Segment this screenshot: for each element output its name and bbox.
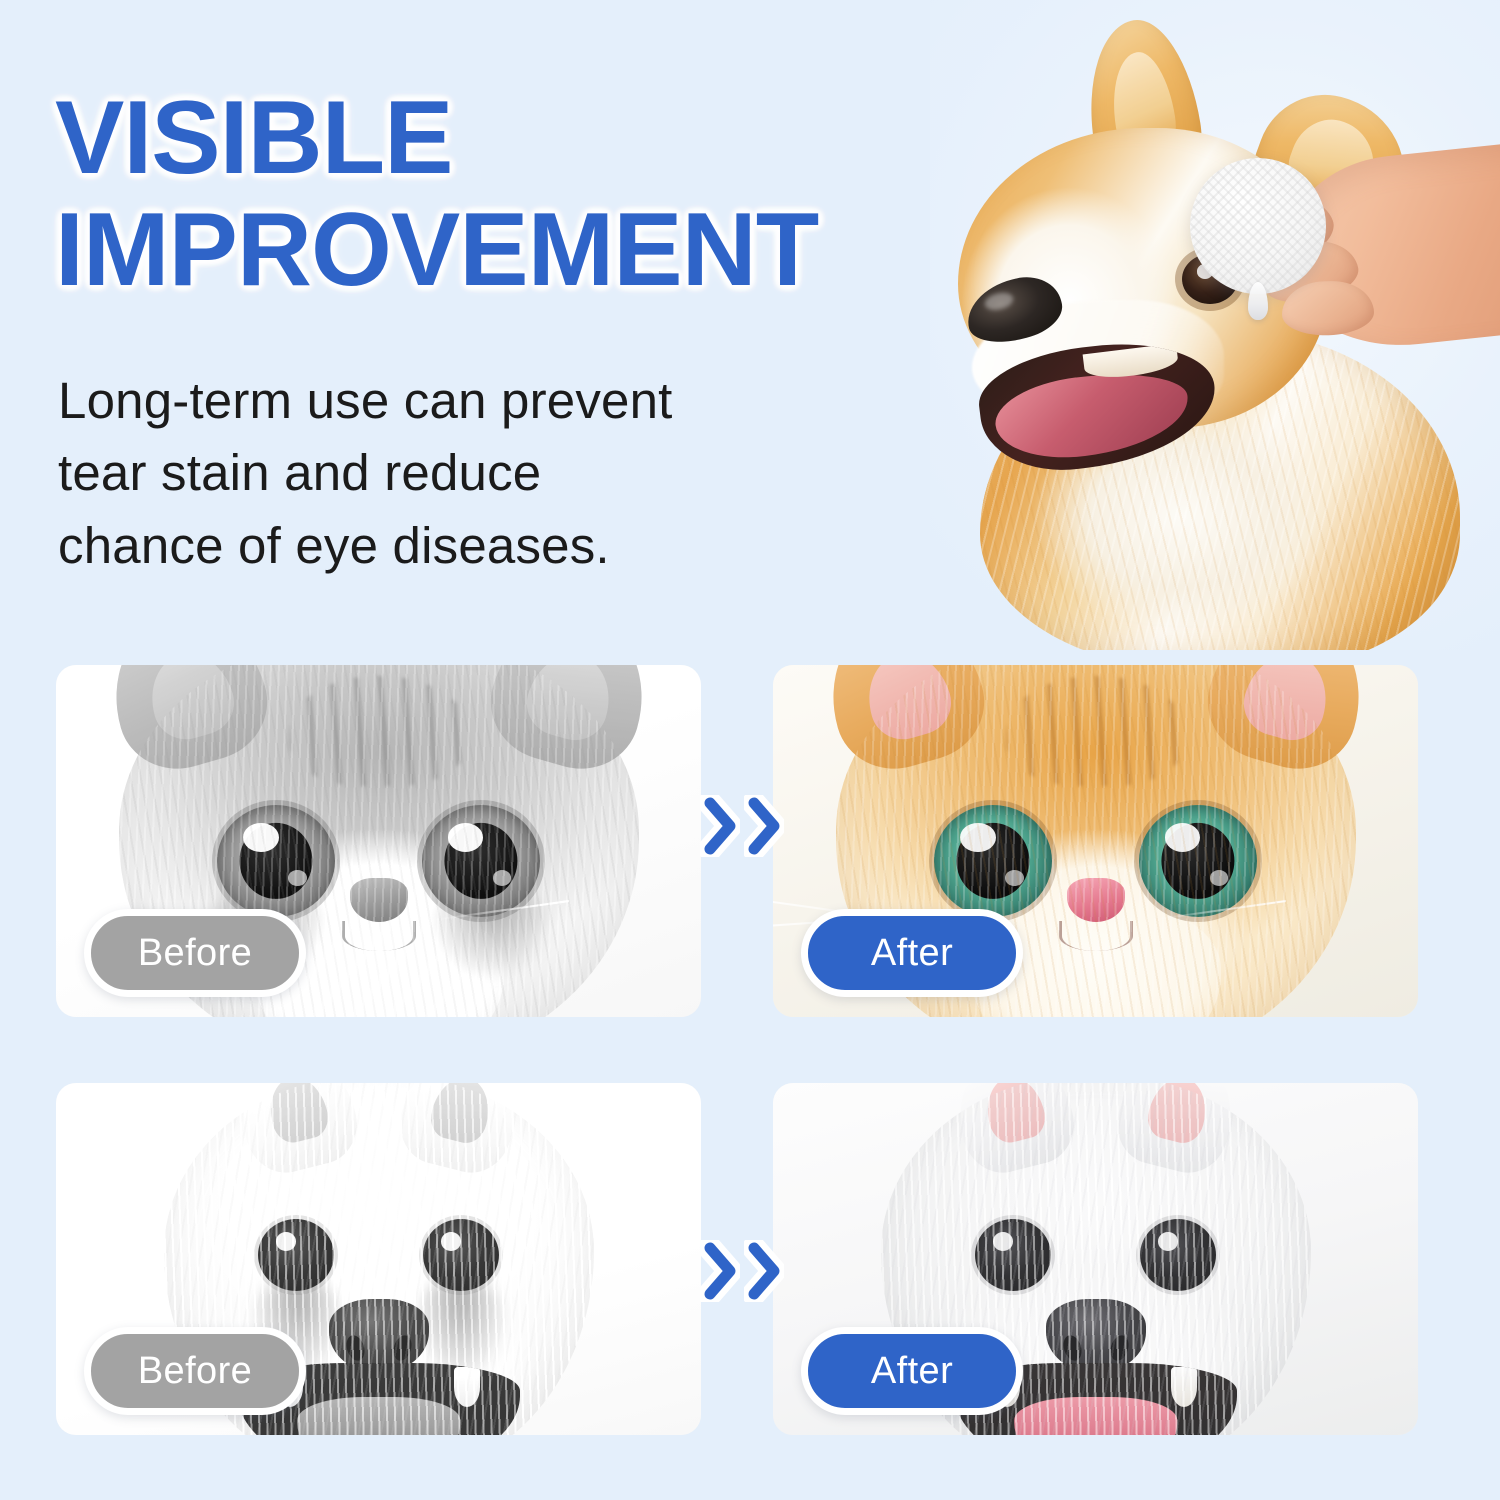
badge-after-kitten-label: After xyxy=(871,932,953,975)
hero-image-corgi-with-cotton-pad xyxy=(930,0,1500,650)
dog-after-tongue xyxy=(1014,1397,1178,1435)
dog-ear-right xyxy=(391,1083,528,1181)
kitten-after-ear-inner-right xyxy=(1236,665,1337,748)
double-chevron-right-icon-top xyxy=(700,795,784,857)
dog-eye-right xyxy=(423,1219,499,1291)
dog-after-eye-highlight-left xyxy=(993,1232,1013,1251)
chevron-right-icon-3 xyxy=(700,1240,740,1302)
subtitle-line-3: chance of eye diseases. xyxy=(58,510,878,582)
dog-after-nose xyxy=(1046,1299,1146,1373)
badge-after-kitten: After xyxy=(801,909,1023,997)
subtitle-text: Long-term use can prevent tear stain and… xyxy=(58,365,878,582)
kitten-ear-inner-left xyxy=(140,665,241,747)
comparison-panel-kitten-after: After xyxy=(773,665,1418,1017)
dog-ear-inner-right xyxy=(427,1083,497,1147)
corgi-nose-highlight xyxy=(983,290,1015,313)
dog-nostril-left xyxy=(343,1333,367,1363)
kitten-after-whisker-3 xyxy=(1147,900,1286,921)
dog-after-nostril-left xyxy=(1060,1333,1084,1363)
cotton-pad-icon xyxy=(1190,158,1326,294)
kitten-after-pupil-right xyxy=(1161,823,1234,899)
kitten-nose xyxy=(350,878,408,922)
headline-line-2: IMPROVEMENT xyxy=(55,200,985,302)
corgi-teeth xyxy=(1082,343,1179,381)
infographic-page: VISIBLE IMPROVEMENT Long-term use can pr… xyxy=(0,0,1500,1500)
dog-eye-highlight-left xyxy=(276,1232,296,1251)
double-chevron-right-icon-bottom xyxy=(700,1240,784,1302)
kitten-after-mouth-line xyxy=(1059,921,1133,951)
kitten-after-ear-inner-left xyxy=(857,665,958,747)
dog-tooth-right xyxy=(454,1367,480,1407)
badge-after-dog: After xyxy=(801,1327,1023,1415)
dog-after-eye-left xyxy=(975,1219,1051,1291)
dog-eye-left xyxy=(258,1219,334,1291)
subtitle-line-2: tear stain and reduce xyxy=(58,437,878,509)
kitten-after-eye-highlight-right xyxy=(1165,823,1200,852)
subtitle-line-1: Long-term use can prevent xyxy=(58,365,878,437)
kitten-eye-right xyxy=(422,805,540,917)
kitten-eye-highlight-right-2 xyxy=(493,870,512,886)
kitten-after-nose xyxy=(1067,878,1125,922)
kitten-forehead-stripes xyxy=(289,676,469,786)
badge-before-kitten-label: Before xyxy=(138,932,252,975)
kitten-pupil-right xyxy=(444,823,517,899)
kitten-eye-highlight-right xyxy=(448,823,483,852)
kitten-after-eye-highlight-right-2 xyxy=(1210,870,1229,886)
kitten-mouth-line xyxy=(342,921,416,951)
badge-before-dog-label: Before xyxy=(138,1350,252,1393)
dog-after-ear-left xyxy=(945,1083,1082,1181)
kitten-after-eye-left xyxy=(934,805,1052,917)
badge-before-dog: Before xyxy=(84,1327,306,1415)
kitten-after-eye-highlight-left xyxy=(960,823,995,852)
kitten-after-forehead-stripes xyxy=(1006,676,1186,786)
kitten-pupil-left xyxy=(240,823,313,899)
dog-ear-left xyxy=(228,1083,365,1181)
comparison-panel-dog-after: After xyxy=(773,1083,1418,1435)
dog-after-nostril-right xyxy=(1107,1333,1131,1363)
dog-after-ear-inner-left xyxy=(980,1083,1050,1146)
chevron-right-icon-1 xyxy=(700,795,740,857)
dog-after-ear-right xyxy=(1108,1083,1245,1181)
dog-after-tooth-right xyxy=(1171,1367,1197,1407)
chevron-right-icon-4 xyxy=(744,1240,784,1302)
dog-nose xyxy=(329,1299,429,1373)
comparison-panel-dog-before: Before xyxy=(56,1083,701,1435)
dog-after-eye-right xyxy=(1140,1219,1216,1291)
dog-tear-stain-right xyxy=(412,1275,508,1387)
badge-after-dog-label: After xyxy=(871,1350,953,1393)
dog-eye-highlight-right xyxy=(441,1232,461,1251)
page-title: VISIBLE IMPROVEMENT xyxy=(55,88,985,302)
kitten-after-eye-right xyxy=(1139,805,1257,917)
kitten-eye-highlight-left-2 xyxy=(288,870,307,886)
kitten-tear-stain-right xyxy=(430,882,550,978)
kitten-ear-inner-right xyxy=(519,665,620,748)
comparison-panel-kitten-before: Before xyxy=(56,665,701,1017)
kitten-after-eye-highlight-left-2 xyxy=(1005,870,1024,886)
dog-after-ear-inner-right xyxy=(1144,1083,1214,1147)
dog-tongue xyxy=(297,1397,461,1435)
kitten-eye-highlight-left xyxy=(243,823,278,852)
dog-after-eye-highlight-right xyxy=(1158,1232,1178,1251)
kitten-whisker-3 xyxy=(430,900,569,921)
chevron-right-icon-2 xyxy=(744,795,784,857)
headline-line-1: VISIBLE xyxy=(55,88,985,190)
dog-ear-inner-left xyxy=(263,1083,333,1146)
dog-nostril-right xyxy=(390,1333,414,1363)
kitten-after-pupil-left xyxy=(957,823,1030,899)
badge-before-kitten: Before xyxy=(84,909,306,997)
kitten-eye-left xyxy=(217,805,335,917)
